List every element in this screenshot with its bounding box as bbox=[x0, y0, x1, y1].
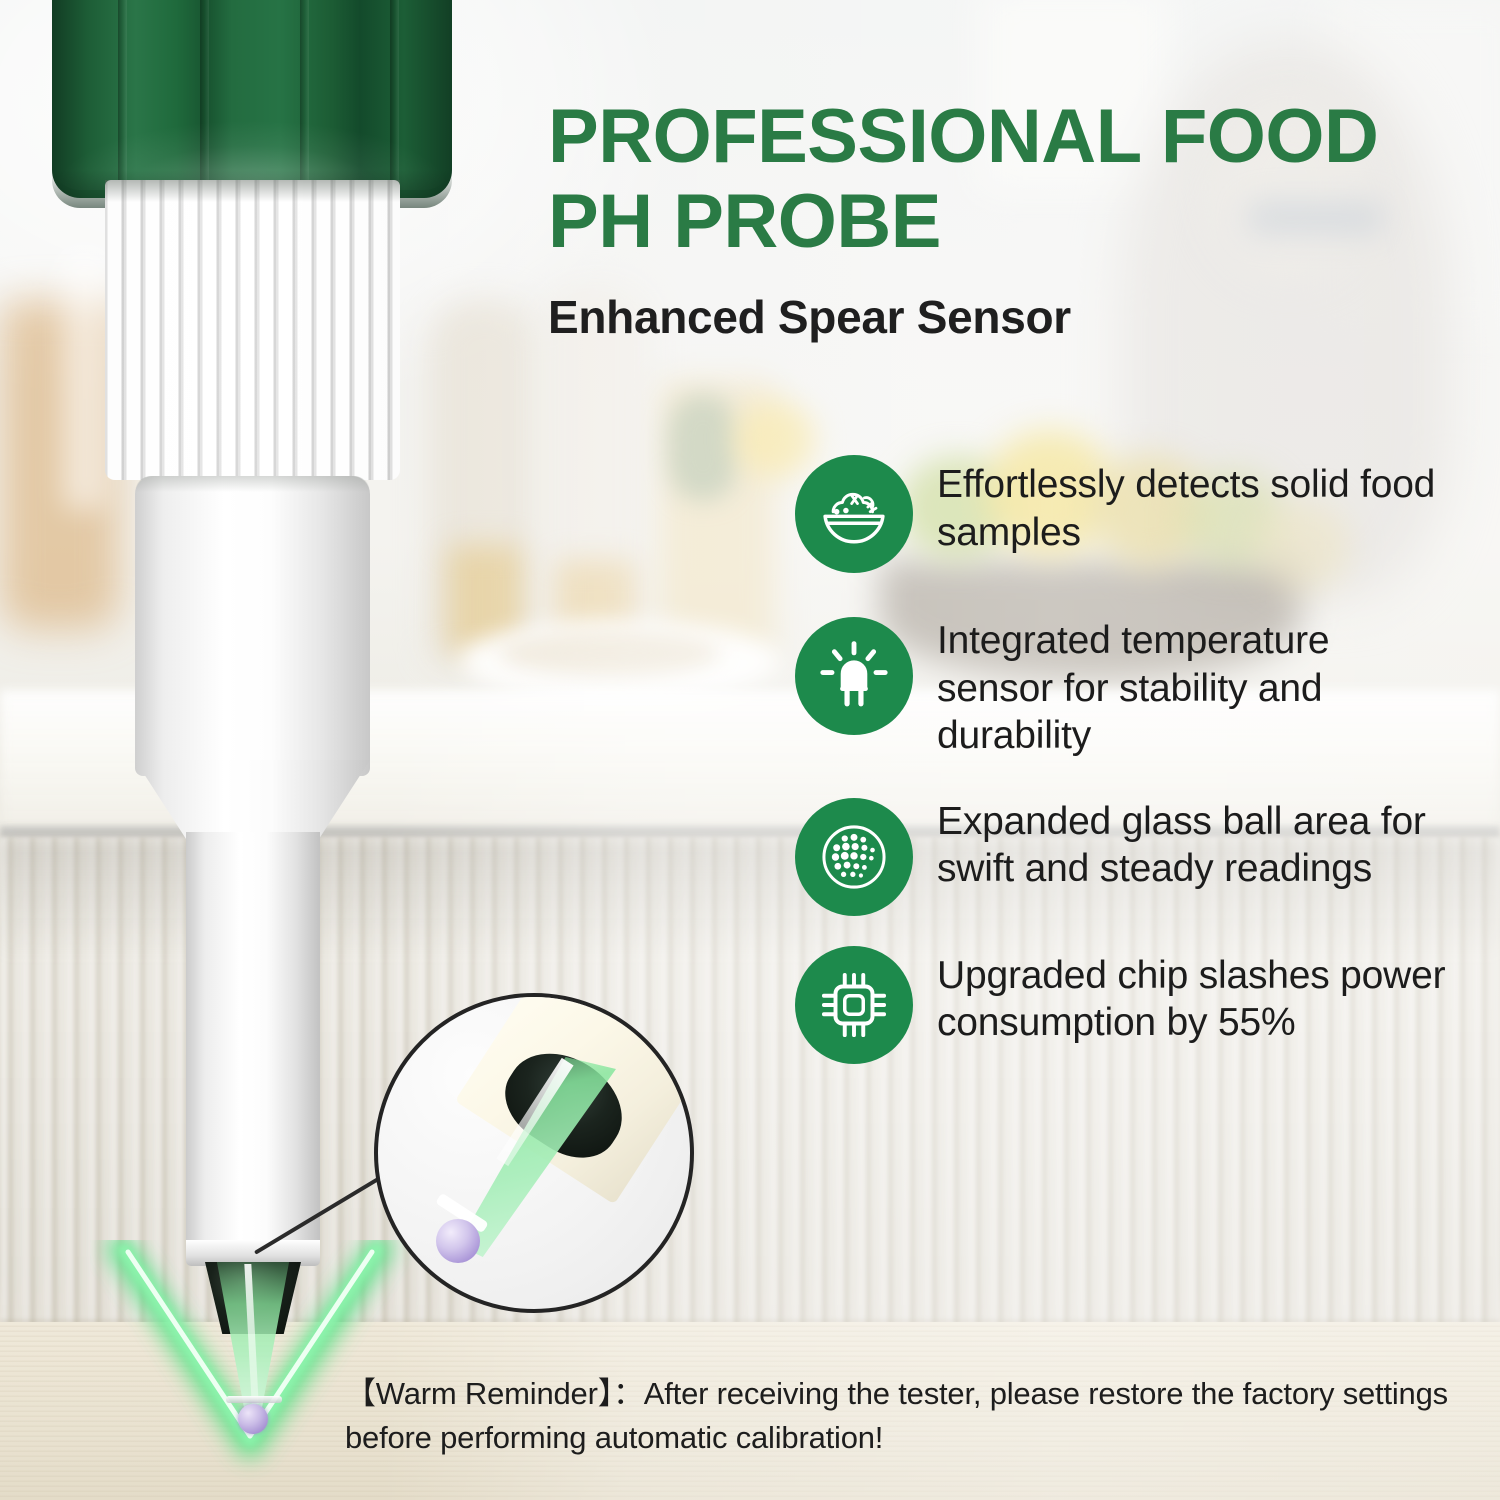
probe-glass-ball bbox=[238, 1404, 268, 1434]
page-title: PROFESSIONAL FOOD PH PROBE bbox=[548, 94, 1478, 264]
glass-ball-dot-matrix-icon bbox=[795, 798, 913, 916]
ph-probe-product-photo bbox=[0, 0, 560, 1460]
feature-item: Integrated temperature sensor for stabil… bbox=[795, 617, 1455, 760]
cpu-chip-icon bbox=[795, 946, 913, 1064]
feature-item: Expanded glass ball area for swift and s… bbox=[795, 798, 1455, 916]
probe-white-housing bbox=[135, 476, 370, 776]
probe-taper-section bbox=[135, 760, 370, 840]
magnified-glass-ball bbox=[436, 1219, 480, 1263]
warm-reminder-note: 【Warm Reminder】：After receiving the test… bbox=[345, 1372, 1465, 1460]
feature-text: Effortlessly detects solid food samples bbox=[937, 455, 1455, 556]
salad-bowl-icon bbox=[795, 455, 913, 573]
headline-block: PROFESSIONAL FOOD PH PROBE Enhanced Spea… bbox=[548, 94, 1478, 344]
magnified-tip-callout bbox=[374, 993, 694, 1313]
probe-ribbed-collar bbox=[105, 180, 400, 480]
page-subtitle: Enhanced Spear Sensor bbox=[548, 290, 1478, 344]
feature-text: Expanded glass ball area for swift and s… bbox=[937, 798, 1455, 893]
feature-text: Upgraded chip slashes power consumption … bbox=[937, 946, 1455, 1047]
feature-item: Upgraded chip slashes power consumption … bbox=[795, 946, 1455, 1064]
probe-tip-collar bbox=[226, 1396, 282, 1403]
feature-list: Effortlessly detects solid food samples … bbox=[795, 455, 1455, 1064]
product-infographic: PROFESSIONAL FOOD PH PROBE Enhanced Spea… bbox=[0, 0, 1500, 1500]
led-temperature-sensor-icon bbox=[795, 617, 913, 735]
feature-text: Integrated temperature sensor for stabil… bbox=[937, 617, 1455, 760]
title-line-1: PROFESSIONAL FOOD bbox=[548, 94, 1478, 179]
probe-narrow-shaft bbox=[186, 832, 320, 1252]
probe-collar-shadow bbox=[105, 180, 400, 202]
feature-item: Effortlessly detects solid food samples bbox=[795, 455, 1455, 573]
title-line-2: PH PROBE bbox=[548, 179, 1478, 264]
probe-housing-seam bbox=[135, 476, 370, 492]
